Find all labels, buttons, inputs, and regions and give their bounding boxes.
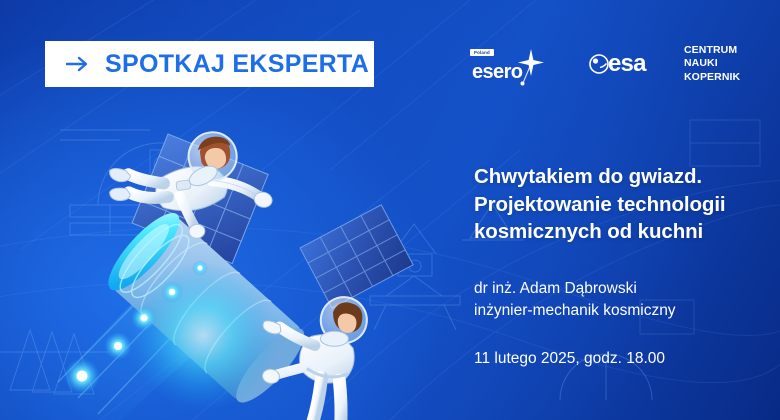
- astronauts-satellite-illustration: [0, 96, 470, 420]
- partner-logos: Poland esero esa CENTRUM NAUKI KOPERNIK: [462, 40, 762, 92]
- light-beam: [20, 236, 262, 420]
- cnk-line-3: KOPERNIK: [684, 71, 766, 84]
- badge-label: SPOTKAJ EKSPERTA: [105, 52, 369, 77]
- event-title: Chwytakiem do gwiazd. Projektowanie tech…: [474, 163, 770, 246]
- glow-particles: [64, 260, 208, 394]
- event-speaker: dr inż. Adam Dąbrowski inżynier-mechanik…: [474, 278, 770, 323]
- event-details: Chwytakiem do gwiazd. Projektowanie tech…: [474, 163, 770, 369]
- astronaut-upper: [103, 124, 278, 250]
- speaker-role: inżynier-mechanik kosmiczny: [474, 300, 770, 323]
- satellite-module: [112, 216, 314, 411]
- poster-canvas: SPOTKAJ EKSPERTA Poland esero esa CENTRU…: [0, 0, 780, 420]
- esero-poland-logo[interactable]: Poland esero: [470, 48, 554, 90]
- esa-logo[interactable]: esa: [588, 50, 666, 84]
- event-title-line-1: Chwytakiem do gwiazd.: [474, 163, 770, 191]
- esa-globe-icon: [589, 54, 609, 74]
- esa-wordmark: esa: [608, 52, 646, 76]
- cnk-line-2: NAUKI: [684, 57, 766, 70]
- solar-panel-lower: [300, 205, 413, 308]
- cnk-line-1: CENTRUM: [684, 44, 766, 57]
- speaker-name: dr inż. Adam Dąbrowski: [474, 278, 770, 301]
- esero-country-label: Poland: [470, 49, 494, 56]
- glowing-thruster: [99, 204, 277, 410]
- event-title-line-2: Projektowanie technologii: [474, 191, 770, 219]
- solar-panel-upper: [132, 134, 268, 263]
- centrum-nauki-kopernik-logo[interactable]: CENTRUM NAUKI KOPERNIK: [684, 44, 766, 90]
- event-title-line-3: kosmicznych od kuchni: [474, 218, 770, 246]
- event-datetime: 11 lutego 2025, godz. 18.00: [474, 349, 770, 369]
- spotkaj-eksperta-badge[interactable]: SPOTKAJ EKSPERTA: [45, 41, 374, 87]
- esero-wordmark: esero: [472, 62, 522, 82]
- astronaut-lower: [243, 283, 376, 420]
- arrow-right-icon: [66, 55, 90, 73]
